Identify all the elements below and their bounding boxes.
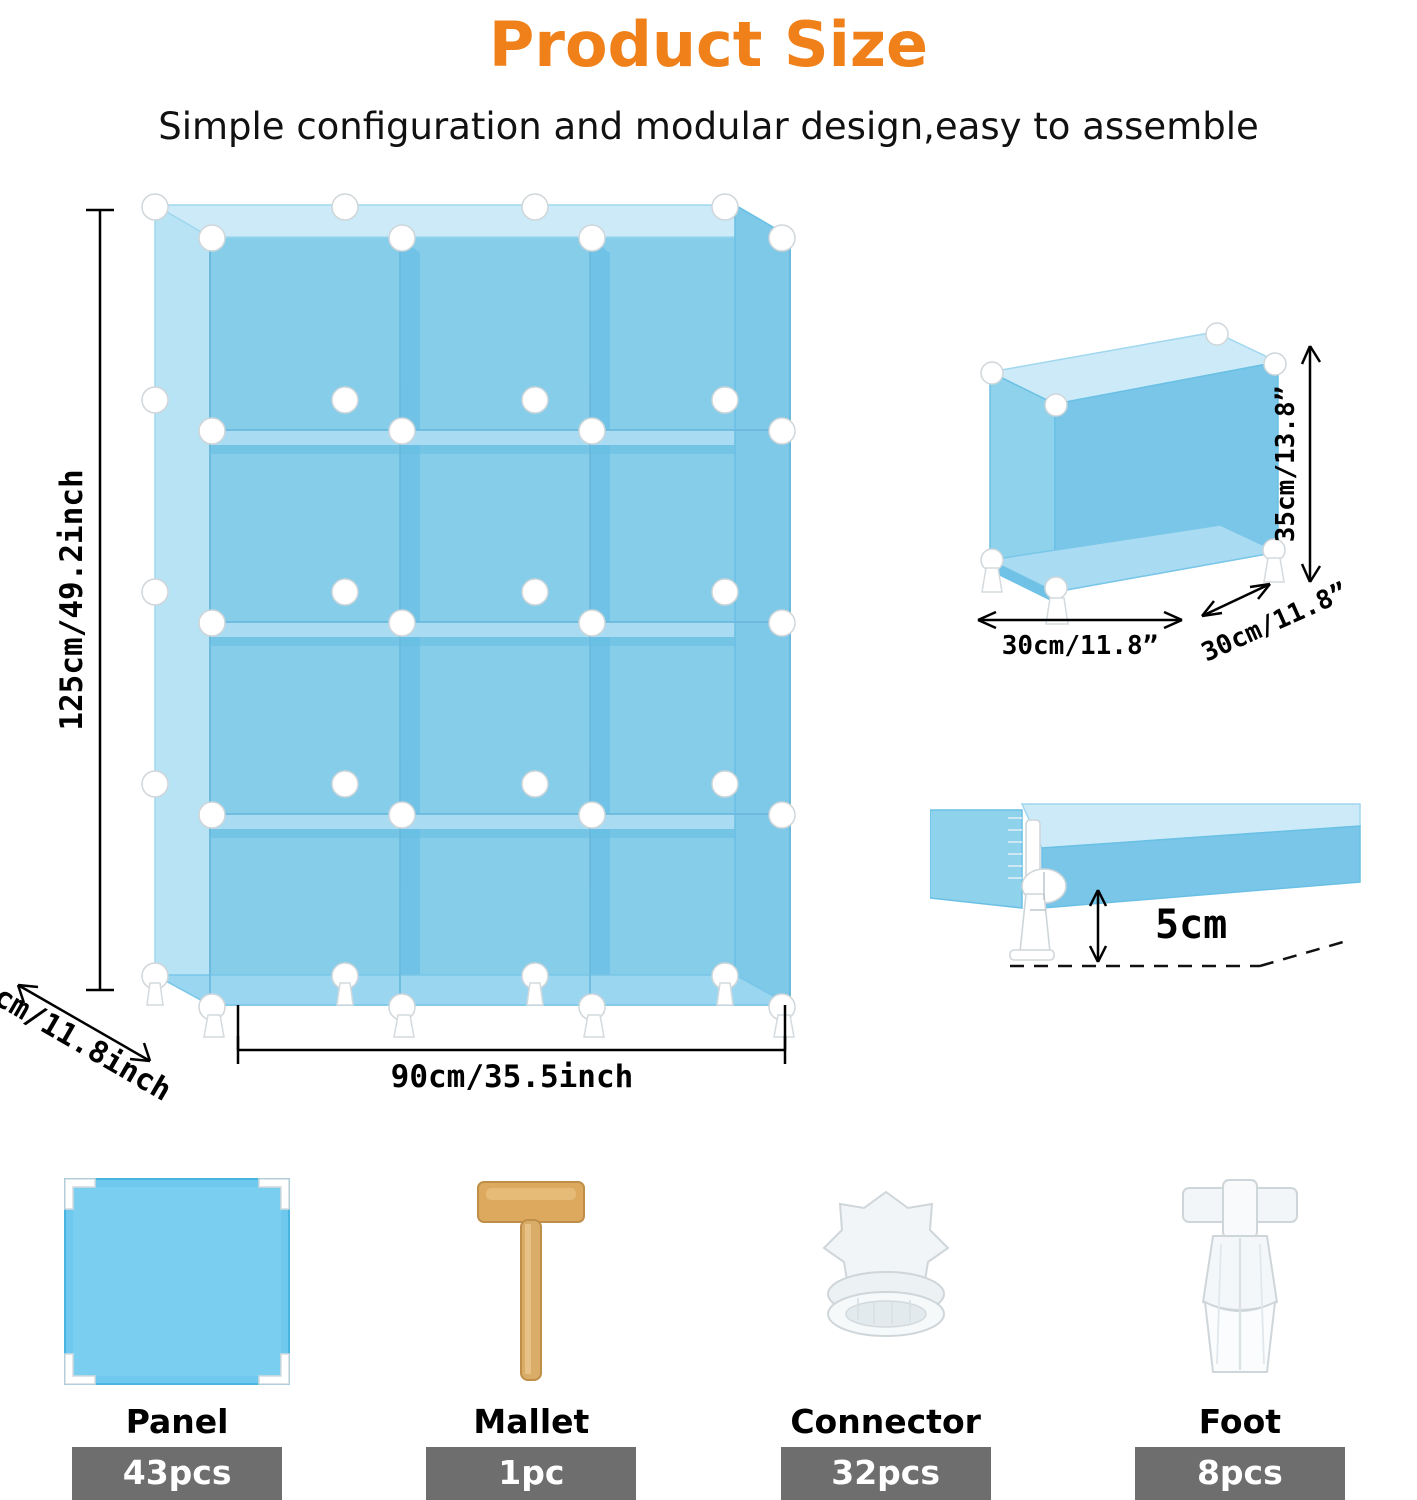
foot-figure — [1063, 1166, 1417, 1396]
part-name: Connector — [790, 1402, 981, 1441]
foot-height-label: 5cm — [1155, 902, 1227, 948]
cube-height-dimension — [1302, 346, 1320, 582]
cube-width-dimension — [978, 612, 1182, 628]
part-count: 8pcs — [1135, 1447, 1345, 1500]
shelf-diagram: 125cm/49.2inch — [0, 175, 830, 1105]
panel-figure — [0, 1166, 354, 1396]
part-name: Foot — [1199, 1402, 1281, 1441]
height-dimension — [86, 210, 114, 990]
part-count: 43pcs — [72, 1447, 282, 1500]
cube-height-label: 35cm/13.8” — [1271, 386, 1301, 543]
foot-height-dimension — [1090, 890, 1106, 962]
part-count: 1pc — [426, 1447, 636, 1500]
connector-icon — [796, 1174, 976, 1389]
mallet-icon — [446, 1174, 616, 1389]
width-dimension — [238, 1005, 785, 1064]
width-dimension-label: 90cm/35.5inch — [391, 1059, 634, 1095]
single-cube-diagram: 35cm/13.8” 30cm/11.8” 30cm/11.8” — [930, 320, 1350, 700]
page-subtitle: Simple configuration and modular design,… — [0, 105, 1417, 148]
part-mallet: Mallet 1pc — [354, 1120, 708, 1500]
part-panel: Panel 43pcs — [0, 1120, 354, 1500]
cube-depth-dimension — [1202, 584, 1270, 616]
part-count: 32pcs — [781, 1447, 991, 1500]
parts-list: Panel 43pcs Mallet 1pc — [0, 1120, 1417, 1500]
panel-icon — [57, 1174, 297, 1389]
part-connector: Connector 32pcs — [709, 1120, 1063, 1500]
part-foot: Foot 8pcs — [1063, 1120, 1417, 1500]
foot-height-diagram: 5cm — [930, 790, 1370, 1020]
cube-depth-label: 30cm/11.8” — [1197, 577, 1350, 668]
mallet-figure — [354, 1166, 708, 1396]
height-dimension-label: 125cm/49.2inch — [54, 469, 90, 730]
part-name: Mallet — [473, 1402, 589, 1441]
page-title: Product Size — [0, 8, 1417, 81]
connector-figure — [709, 1166, 1063, 1396]
cube-width-label: 30cm/11.8” — [1002, 631, 1159, 661]
part-name: Panel — [126, 1402, 229, 1441]
foot-icon — [1165, 1174, 1315, 1389]
